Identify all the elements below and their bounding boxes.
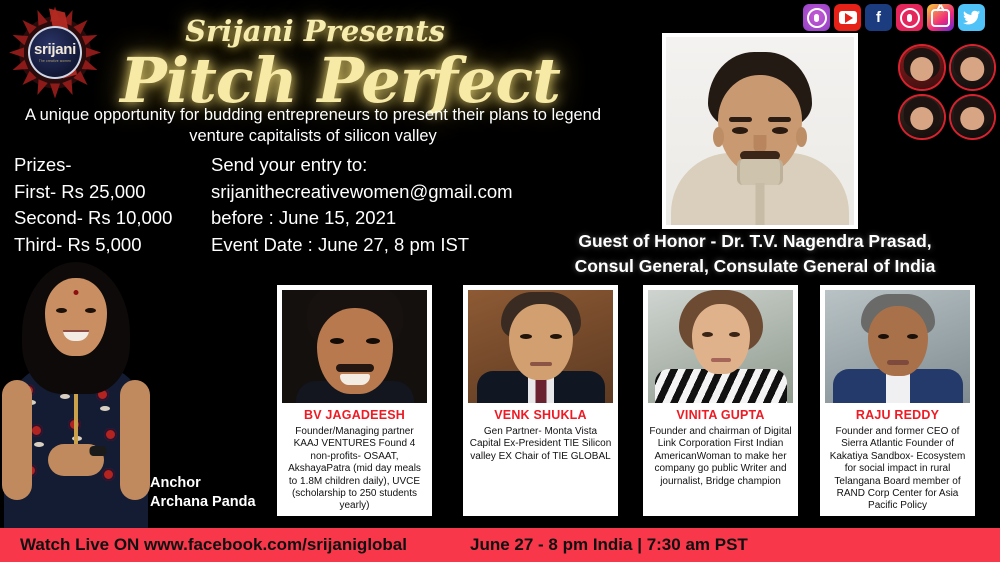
speaker-bio: Founder and chairman of Digital Link Cor… xyxy=(648,426,793,488)
entry-email[interactable]: srijanithecreativewomen@gmail.com xyxy=(211,179,513,206)
tagline-text: A unique opportunity for budding entrepr… xyxy=(4,105,622,147)
facebook-icon[interactable]: f xyxy=(865,4,892,31)
speaker-name: BV JAGADEESH xyxy=(282,408,427,422)
logo-disc: srijani The creative women xyxy=(28,26,82,79)
speaker-bio: Founder and former CEO of Sierra Atlanti… xyxy=(825,426,970,513)
team-portrait xyxy=(949,44,997,91)
twitter-icon[interactable] xyxy=(958,4,985,31)
speaker-bio: Gen Partner- Monta Vista Capital Ex-Pres… xyxy=(468,426,613,463)
guest-of-honor-caption: Guest of Honor - Dr. T.V. Nagendra Prasa… xyxy=(520,229,990,279)
anchor-caption: Anchor Archana Panda xyxy=(150,474,256,512)
speaker-name: VINITA GUPTA xyxy=(648,408,793,422)
prize-second: Second- Rs 10,000 xyxy=(14,205,172,232)
prizes-heading: Prizes- xyxy=(14,152,172,179)
team-portrait xyxy=(949,94,997,141)
anchor-name: Archana Panda xyxy=(150,493,256,512)
entry-deadline: before : June 15, 2021 xyxy=(211,205,513,232)
speaker-photo xyxy=(825,290,970,403)
entry-heading: Send your entry to: xyxy=(211,152,513,179)
presents-text: Srijani Presents xyxy=(135,14,495,48)
anchor-icon[interactable] xyxy=(896,4,923,31)
speaker-card[interactable]: VINITA GUPTA Founder and chairman of Dig… xyxy=(643,285,798,516)
anchor-photo xyxy=(0,262,152,530)
team-portrait xyxy=(898,94,946,141)
logo-tagline: The creative women xyxy=(39,59,71,63)
prize-third: Third- Rs 5,000 xyxy=(14,232,172,259)
speaker-bio: Founder/Managing partner KAAJ VENTURES F… xyxy=(282,426,427,513)
twitter-bird-glyph xyxy=(963,10,980,25)
guest-of-honor-photo xyxy=(662,33,858,229)
speaker-photo xyxy=(648,290,793,403)
speaker-card[interactable]: BV JAGADEESH Founder/Managing partner KA… xyxy=(277,285,432,516)
srijani-logo: srijani The creative women xyxy=(6,5,104,100)
watch-live-link[interactable]: Watch Live ON www.facebook.com/srijanigl… xyxy=(20,535,407,555)
speaker-name: VENK SHUKLA xyxy=(468,408,613,422)
entry-event-date: Event Date : June 27, 8 pm IST xyxy=(211,232,513,259)
speaker-name: RAJU REDDY xyxy=(825,408,970,422)
speaker-photo xyxy=(282,290,427,403)
social-links: f xyxy=(803,4,985,31)
igtv-icon[interactable] xyxy=(927,4,954,31)
guest-portrait-illustration xyxy=(666,37,854,225)
youtube-icon[interactable] xyxy=(834,4,861,31)
logo-wordmark: srijani xyxy=(34,42,76,57)
entry-block: Send your entry to: srijanithecreativewo… xyxy=(211,152,513,258)
event-poster: srijani The creative women Srijani Prese… xyxy=(0,0,1000,562)
prize-first: First- Rs 25,000 xyxy=(14,179,172,206)
prizes-block: Prizes- First- Rs 25,000 Second- Rs 10,0… xyxy=(14,152,172,258)
speaker-photo xyxy=(468,290,613,403)
anchor-role: Anchor xyxy=(150,474,256,493)
guest-caption-line2: Consul General, Consulate General of Ind… xyxy=(520,254,990,279)
team-portrait xyxy=(898,44,946,91)
banner-time: June 27 - 8 pm India | 7:30 am PST xyxy=(470,535,748,555)
speaker-card[interactable]: RAJU REDDY Founder and former CEO of Sie… xyxy=(820,285,975,516)
team-portrait-grid xyxy=(898,44,996,140)
apple-podcasts-icon[interactable] xyxy=(803,4,830,31)
bottom-banner: Watch Live ON www.facebook.com/srijanigl… xyxy=(0,528,1000,562)
guest-caption-line1: Guest of Honor - Dr. T.V. Nagendra Prasa… xyxy=(520,229,990,254)
speaker-card[interactable]: VENK SHUKLA Gen Partner- Monta Vista Cap… xyxy=(463,285,618,516)
